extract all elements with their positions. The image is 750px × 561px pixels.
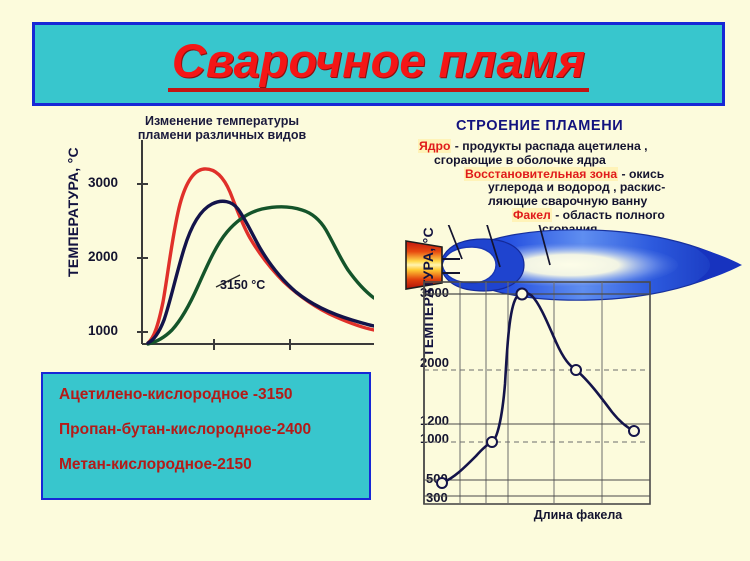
right-chart-x-axis-label: Длина факела [458,508,698,522]
gas-item-propane-butane-oxygen: Пропан-бутан-кислородное-2400 [59,421,369,439]
flame-desc-line-3: Восстановительная зона - окись [402,168,750,182]
flame-desc-rest-3: - окись [618,167,664,181]
left-chart-curve-carburizing [148,207,374,344]
slide-root: Сварочное пламя Изменение температуры пл… [0,0,750,561]
right-chart-marker-1150 [629,426,639,436]
flame-desc-rest-2: сгорающие в оболочке ядра [434,153,606,167]
right-chart-frame [424,282,650,504]
flame-desc-line-6: Факел - область полного [402,209,750,223]
flame-desc-line-1: Ядро - продукты распада ацетилена , [402,140,750,154]
left-chart-annotation: 3150 °C [220,278,265,292]
flame-desc-line-4: углерода и водород , раскис- [402,181,750,195]
gas-item-acetylene-oxygen: Ацетилено-кислородное -3150 [59,386,369,404]
flame-structure-title: СТРОЕНИЕ ПЛАМЕНИ [456,118,623,134]
flame-desc-line-5: ляющие сварочную ванну [402,195,750,209]
right-panel: СТРОЕНИЕ ПЛАМЕНИ Ядро - продукты распада… [398,112,750,552]
right-chart-marker-500 [437,478,447,488]
right-chart-marker-2000 [571,365,581,375]
page-title: Сварочное пламя [168,36,589,91]
left-chart-curve-normal [148,201,374,343]
flame-desc-rest-6: - область полного [552,208,665,222]
keyword-core: Ядро [418,139,451,153]
flame-core [442,247,496,283]
left-chart-plot [44,112,374,372]
gas-mixture-box: Ацетилено-кислородное -3150 Пропан-бутан… [41,372,371,500]
flame-desc-rest-1: - продукты распада ацетилена , [451,139,647,153]
keyword-torch: Факел [512,208,552,222]
flame-desc-line-2: сгорающие в оболочке ядра [402,154,750,168]
flame-structure-description: Ядро - продукты распада ацетилена , сгор… [402,140,750,236]
flame-desc-rest-4: углерода и водород , раскис- [488,180,665,194]
title-box: Сварочное пламя [32,22,725,106]
keyword-reducing-zone: Восстановительная зона [464,167,618,181]
gas-item-methane-oxygen: Метан-кислородное-2150 [59,456,369,474]
right-chart-marker-1000 [487,437,497,447]
flame-desc-rest-5: ляющие сварочную ванну [488,194,647,208]
right-chart-plot [398,280,750,540]
left-chart: Изменение температуры пламени различных … [44,112,374,360]
right-chart-marker-3000 [517,289,528,300]
right-chart-curve [442,293,634,483]
